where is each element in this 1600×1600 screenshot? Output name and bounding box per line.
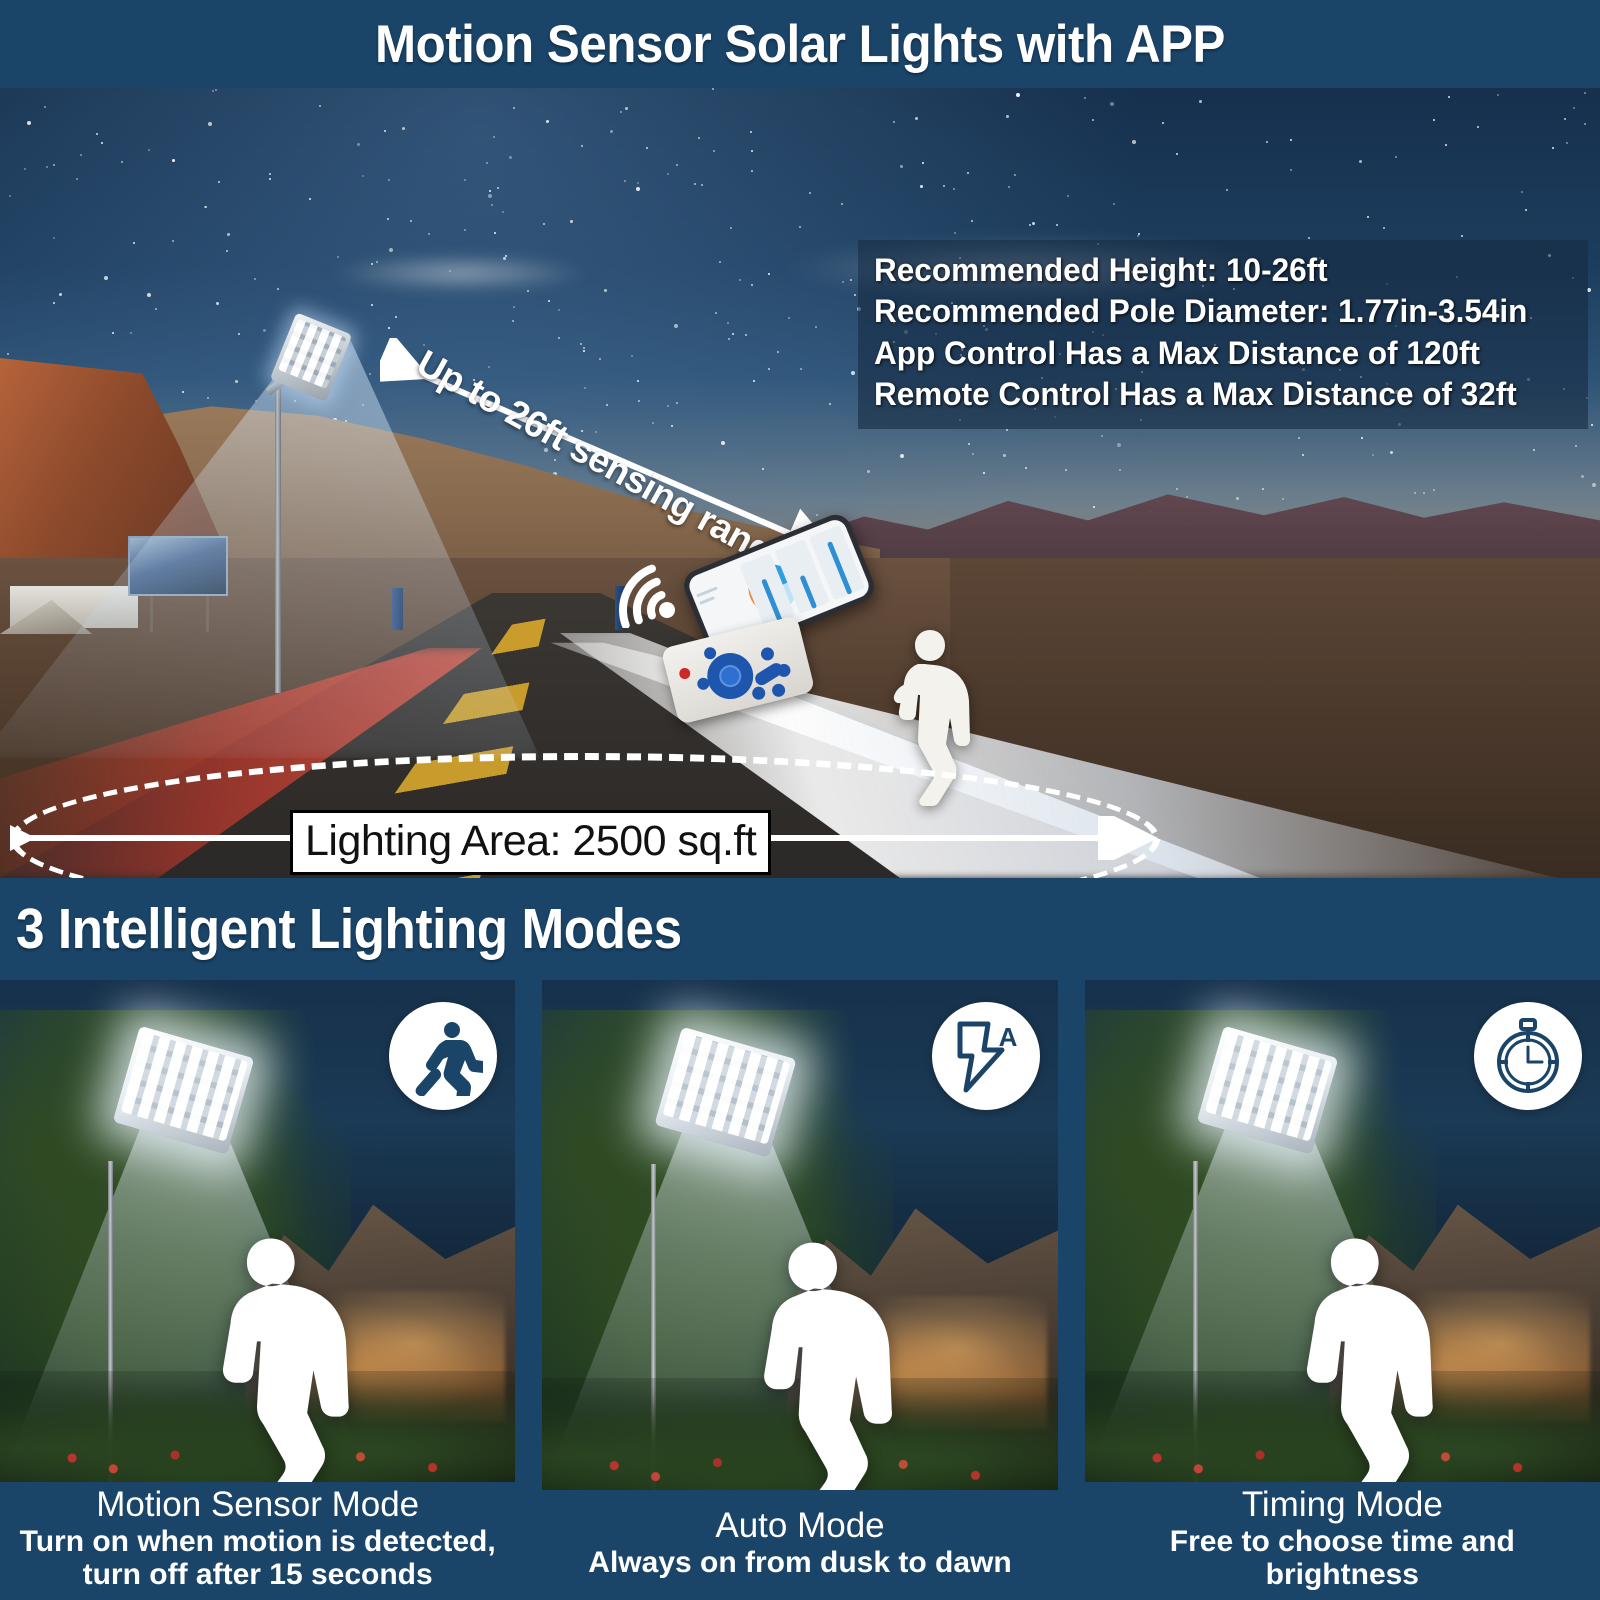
star <box>624 180 626 182</box>
star <box>1497 94 1499 96</box>
walking-person-silhouette <box>738 1235 893 1490</box>
star <box>1117 443 1121 447</box>
star <box>698 137 700 139</box>
star <box>1581 475 1584 478</box>
star <box>1383 227 1385 229</box>
star <box>238 333 240 335</box>
star <box>1092 119 1094 121</box>
star <box>112 332 114 334</box>
star <box>841 203 843 205</box>
lighting-area-label: Lighting Area: 2500 sq.ft <box>290 810 771 875</box>
star <box>133 242 135 244</box>
wifi-signal-icon <box>605 548 685 628</box>
star <box>732 333 734 335</box>
star <box>1290 139 1292 141</box>
star <box>701 184 703 186</box>
star <box>694 183 696 185</box>
star <box>1433 119 1435 121</box>
remote-button[interactable] <box>760 646 776 662</box>
mode-caption: Timing Mode Free to choose time and brig… <box>1085 1482 1600 1600</box>
mode-panel-auto[interactable]: A Auto Mode Always on from dusk to dawn <box>542 980 1057 1600</box>
star <box>155 308 157 310</box>
star <box>1361 437 1363 439</box>
star <box>1016 93 1020 97</box>
mode-description: Turn on when motion is detected, turn of… <box>20 1525 496 1592</box>
star <box>1564 118 1566 120</box>
star <box>1359 160 1362 163</box>
star <box>900 165 903 168</box>
star <box>768 273 770 275</box>
mode-description: Free to choose time and brightness <box>1091 1525 1594 1592</box>
star <box>494 232 496 234</box>
star <box>205 206 207 208</box>
spec-line: Remote Control Has a Max Distance of 32f… <box>874 374 1564 415</box>
star <box>570 220 573 223</box>
page-title: Motion Sensor Solar Lights with APP <box>375 14 1225 75</box>
header-band-top: Motion Sensor Solar Lights with APP <box>0 0 1600 88</box>
star <box>750 131 752 133</box>
remote-power-button[interactable] <box>678 667 691 680</box>
star <box>53 237 55 239</box>
star <box>1525 209 1527 211</box>
lighting-modes-row: Motion Sensor Mode Turn on when motion i… <box>0 980 1600 1600</box>
mode-icon-badge <box>389 1002 497 1110</box>
star <box>1162 122 1164 124</box>
star <box>1290 169 1292 171</box>
star <box>44 106 46 108</box>
star <box>384 130 386 132</box>
star <box>719 261 721 263</box>
star <box>1266 141 1268 143</box>
star <box>1137 235 1139 237</box>
star <box>1093 506 1095 508</box>
star <box>218 181 220 183</box>
star <box>1584 123 1586 125</box>
star <box>497 187 499 189</box>
mode-description: Always on from dusk to dawn <box>588 1546 1011 1580</box>
star <box>712 88 714 90</box>
star <box>620 111 622 113</box>
star <box>745 334 747 336</box>
star <box>799 226 801 228</box>
star <box>502 211 504 213</box>
star <box>751 284 753 286</box>
star <box>1372 454 1374 456</box>
star <box>1575 445 1577 447</box>
star <box>388 179 390 181</box>
remote-button[interactable] <box>751 685 767 701</box>
walking-person-silhouette <box>196 1231 351 1482</box>
star <box>428 233 430 235</box>
star <box>1423 492 1425 494</box>
star <box>216 302 219 305</box>
star <box>493 136 495 138</box>
star <box>1006 429 1008 431</box>
star <box>53 302 55 304</box>
star <box>1367 216 1369 218</box>
star <box>983 472 985 474</box>
mode-caption: Auto Mode Always on from dusk to dawn <box>542 1490 1057 1600</box>
star <box>674 324 678 328</box>
remote-button[interactable] <box>776 663 792 679</box>
star <box>1445 144 1447 146</box>
star <box>625 107 628 110</box>
star <box>1003 454 1006 457</box>
star <box>1395 156 1397 158</box>
star <box>1566 142 1568 144</box>
star <box>953 188 955 190</box>
star <box>1433 489 1435 491</box>
star <box>676 164 678 166</box>
star <box>637 182 639 184</box>
star <box>1591 424 1593 426</box>
star <box>263 329 266 332</box>
star <box>96 133 98 135</box>
star <box>1262 488 1264 490</box>
star <box>604 289 607 292</box>
star <box>715 312 717 314</box>
app-text-line <box>699 596 715 605</box>
star <box>1029 224 1031 226</box>
star <box>1014 174 1016 176</box>
star <box>410 220 412 222</box>
star <box>943 185 945 187</box>
star <box>489 190 491 192</box>
star <box>815 326 817 328</box>
star <box>319 105 321 107</box>
remote-button[interactable] <box>771 682 787 698</box>
mode-title: Timing Mode <box>1242 1486 1443 1523</box>
star <box>362 175 364 177</box>
star <box>269 173 271 175</box>
star <box>1176 153 1178 155</box>
star <box>212 90 214 92</box>
mode-panel-motion-sensor[interactable]: Motion Sensor Mode Turn on when motion i… <box>0 980 515 1600</box>
star <box>24 168 26 170</box>
star <box>277 288 279 290</box>
star <box>543 223 545 225</box>
star <box>867 470 870 473</box>
star <box>751 150 753 152</box>
star <box>1132 140 1136 144</box>
star <box>954 232 956 234</box>
star <box>226 250 228 252</box>
star <box>1282 498 1284 500</box>
star <box>751 170 753 172</box>
star <box>513 306 515 308</box>
star <box>1592 483 1596 487</box>
star <box>53 164 55 166</box>
star <box>1390 451 1393 454</box>
star <box>512 320 514 322</box>
star <box>636 187 640 191</box>
star <box>147 293 151 297</box>
walking-person-silhouette <box>1280 1231 1435 1482</box>
star <box>900 454 904 458</box>
star <box>1101 435 1103 437</box>
star <box>1477 126 1479 128</box>
star <box>1110 102 1114 106</box>
star <box>893 121 895 123</box>
spec-list: Recommended Height: 10-26ftRecommended P… <box>858 240 1588 429</box>
panel-divider <box>524 980 533 1600</box>
star <box>1298 437 1300 439</box>
star <box>739 279 741 281</box>
mode-icon-badge <box>1474 1002 1582 1110</box>
cloud-band-left <box>330 253 590 293</box>
star <box>80 154 82 156</box>
star <box>488 194 492 198</box>
star <box>207 397 209 399</box>
star <box>1119 469 1121 471</box>
star <box>558 309 560 311</box>
star <box>1461 235 1463 237</box>
star <box>215 89 217 91</box>
star <box>920 185 923 188</box>
star <box>972 453 974 455</box>
mode-panel-timing[interactable]: Timing Mode Free to choose time and brig… <box>1085 980 1600 1600</box>
running-person-icon <box>403 1016 483 1096</box>
star <box>148 149 150 151</box>
star <box>967 172 969 174</box>
app-text-line <box>696 586 718 597</box>
star <box>357 143 360 146</box>
star <box>1008 186 1010 188</box>
star <box>1056 224 1058 226</box>
star <box>387 218 389 220</box>
spec-line: Recommended Height: 10-26ft <box>874 250 1564 291</box>
light-pole <box>275 388 281 693</box>
star <box>402 127 405 130</box>
star <box>548 300 550 302</box>
star <box>371 304 373 306</box>
star <box>227 233 230 236</box>
star <box>309 198 311 200</box>
star <box>1025 467 1027 469</box>
star <box>46 166 48 168</box>
star <box>172 240 174 242</box>
star <box>1032 222 1035 225</box>
star <box>730 227 732 229</box>
star <box>7 353 9 355</box>
star <box>1176 488 1178 490</box>
spec-line: Recommended Pole Diameter: 1.77in-3.54in <box>874 291 1564 332</box>
star <box>509 156 512 159</box>
auto-lightning-bolt-icon: A <box>946 1016 1026 1096</box>
panel-divider <box>1067 980 1076 1600</box>
star <box>581 145 583 147</box>
modes-title: 3 Intelligent Lighting Modes <box>16 896 682 962</box>
star <box>235 380 238 383</box>
star <box>713 150 715 152</box>
star <box>27 121 31 125</box>
star <box>1006 115 1009 118</box>
mode-caption: Motion Sensor Mode Turn on when motion i… <box>0 1482 515 1600</box>
star <box>1065 469 1067 471</box>
star <box>389 248 393 252</box>
stopwatch-timer-icon <box>1488 1016 1568 1096</box>
mode-icon-badge: A <box>932 1002 1040 1110</box>
star <box>208 122 212 126</box>
mode-title: Auto Mode <box>715 1507 884 1544</box>
star <box>182 391 184 393</box>
star <box>1533 449 1535 451</box>
star <box>9 195 11 197</box>
star <box>727 322 729 324</box>
mode-title: Motion Sensor Mode <box>96 1486 419 1523</box>
star <box>922 162 924 164</box>
star <box>968 443 970 445</box>
star <box>395 316 397 318</box>
star <box>388 327 390 329</box>
star <box>486 162 488 164</box>
star <box>369 373 371 375</box>
mode-photo: A <box>542 980 1057 1490</box>
star <box>546 120 549 123</box>
star <box>1521 191 1523 193</box>
star <box>1236 497 1239 500</box>
mode-photo <box>0 980 515 1482</box>
svg-text:A: A <box>998 1022 1017 1052</box>
star <box>1226 189 1228 191</box>
star <box>491 204 493 206</box>
star <box>1199 100 1202 103</box>
star <box>130 332 132 334</box>
star <box>971 220 973 222</box>
star <box>610 130 613 133</box>
star <box>76 178 78 180</box>
star <box>464 229 466 231</box>
star <box>1067 195 1069 197</box>
star <box>1113 203 1115 205</box>
star <box>101 142 103 144</box>
star <box>269 178 271 180</box>
star <box>1573 107 1575 109</box>
star <box>464 179 466 181</box>
header-band-modes: 3 Intelligent Lighting Modes <box>0 878 1600 980</box>
star <box>915 117 918 120</box>
star <box>809 192 811 194</box>
star <box>646 147 648 149</box>
star <box>1552 147 1554 149</box>
star <box>1302 454 1304 456</box>
star <box>667 173 669 175</box>
star <box>104 276 108 280</box>
star <box>1414 492 1416 494</box>
mode-photo <box>1085 980 1600 1482</box>
hero-scene: Up to 26ft sensing range <box>0 88 1600 878</box>
star <box>254 278 256 280</box>
star <box>1584 92 1586 94</box>
spec-line: App Control Has a Max Distance of 120ft <box>874 333 1564 374</box>
star <box>1186 496 1188 498</box>
star <box>1138 233 1140 235</box>
star <box>59 293 62 296</box>
star <box>1308 237 1310 239</box>
star <box>513 107 515 109</box>
star <box>172 159 175 162</box>
star <box>788 317 790 319</box>
star <box>1084 97 1086 99</box>
star <box>1448 96 1450 98</box>
star <box>121 161 123 163</box>
